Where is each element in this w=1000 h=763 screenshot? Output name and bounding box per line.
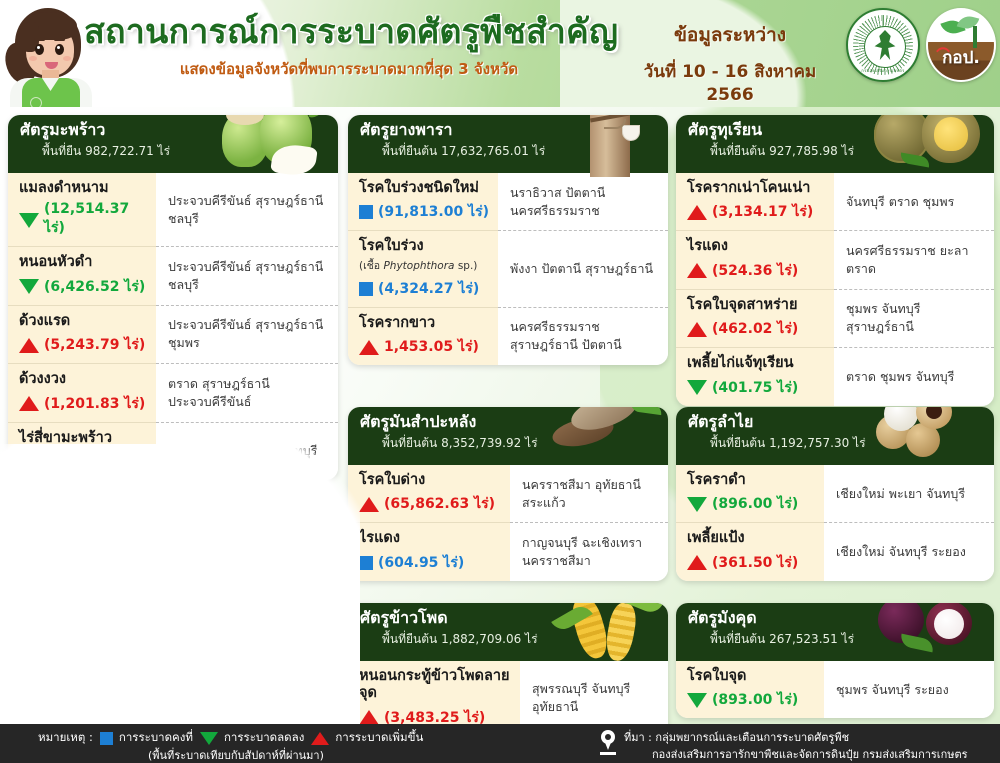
pest-info-cell: โรครากเน่าโคนเน่า(3,134.17 ไร่) — [676, 173, 834, 230]
pest-name: โรครากขาว — [359, 315, 492, 332]
crop-card-mangosteen: ศัตรูมังคุดพื้นที่ยืนต้น 267,523.51 ไร่โ… — [676, 603, 994, 718]
card-area-cassava: พื้นที่ยืนต้น 8,352,739.92 ไร่ — [360, 434, 658, 453]
steady-square-icon — [359, 282, 373, 296]
legend-item-decrease: การระบาดลดลง — [200, 729, 304, 747]
pest-list-cassava: โรคใบด่าง(65,862.63 ไร่)นครราชสีมา อุทัย… — [348, 465, 668, 581]
title-block: สถานการณ์การระบาดศัตรูพืชสำคัญ แสดงข้อมู… — [84, 14, 614, 81]
crop-card-coconut: ศัตรูมะพร้าวพื้นที่ยืน 982,722.71 ไร่แมล… — [8, 115, 338, 480]
legend: หมายเหตุ : การระบาดคงที่ การระบาดลดลง กา… — [38, 729, 423, 747]
pest-area-value: (4,313.46 ไร่ ) — [44, 585, 150, 623]
pest-area-value: 1,453.05 ไร่) — [384, 336, 479, 358]
card-title-mangosteen: ศัตรูมังคุด — [688, 609, 984, 627]
provinces-cell: ประจวบคีรีขันธ์ สุราษฎร์ธานี ชลบุรี — [156, 173, 338, 246]
pest-area-value: (604.95 ไร่) — [378, 552, 464, 574]
card-title-longan: ศัตรูลำไย — [688, 413, 984, 431]
provinces-cell: นครศรีธรรมราช ยะลา ตราด — [834, 230, 994, 288]
legend-item-increase: การระบาดเพิ่มขึ้น — [311, 729, 423, 747]
provinces-cell: นครศรีธรรมราช สุราษฎร์ธานี ปัตตานี — [498, 307, 668, 365]
pest-row: ด้วงแรด(1,736.60 ไร่)สุราษฎร์ธานี สตูล ช… — [8, 630, 338, 688]
pest-area-value: (524.36 ไร่) — [712, 260, 798, 282]
pest-area-value: (361.50 ไร่) — [712, 552, 798, 574]
card-title-cassava: ศัตรูมันสำปะหลัง — [360, 413, 658, 431]
card-title-oilpalm: ศัตรูปาล์มน้ำมัน — [20, 505, 328, 523]
government-seal-icon: กรมส่งเสริมการเกษตร — [846, 8, 920, 82]
increase-triangle-icon — [19, 396, 39, 411]
provinces-cell: พังงา ปัตตานี สุราษฎร์ธานี — [498, 230, 668, 306]
pest-row: ไร่สี่ขามะพร้าว(566.75 ไร่)ฉะเชิงเทรา เพ… — [8, 422, 338, 480]
pest-name: เพลี้ยไก่แจ้ทุเรียน — [687, 355, 828, 372]
pest-area-value: (6,426.52 ไร่) — [44, 276, 145, 298]
provinces-cell: ประจวบคีรีขันธ์ สุราษฎร์ธานี ชุมพร — [156, 305, 338, 363]
pest-area-value: (3,134.17 ไร่) — [712, 201, 813, 223]
steady-square-icon — [100, 732, 113, 745]
pest-area-value: (893.00 ไร่) — [712, 689, 798, 711]
pest-row: โรคใบจุดสาหร่าย(462.02 ไร่)ชุมพร จันทบุร… — [676, 289, 994, 347]
pest-area-value: (91,813.00 ไร่) — [378, 201, 489, 223]
decrease-triangle-icon — [200, 732, 218, 745]
pest-info-cell: แมลงดำหนาม(12,514.37 ไร่) — [8, 173, 156, 246]
pest-value-wrap: (6,426.52 ไร่) — [19, 276, 150, 298]
pest-row: โรคใบจุด(893.00 ไร่)ชุมพร จันทบุรี ระยอง — [676, 661, 994, 718]
pest-info-cell: ด้วงแรด(5,243.79 ไร่) — [8, 305, 156, 363]
card-header-coconut: ศัตรูมะพร้าวพื้นที่ยืน 982,722.71 ไร่ — [8, 115, 338, 173]
pest-row: ด้วงงวง(1,201.83 ไร่)ตราด สุราษฎร์ธานี ป… — [8, 363, 338, 421]
pest-area-value: (896.00 ไร่) — [712, 493, 798, 515]
card-title-maize: ศัตรูข้าวโพด — [360, 609, 658, 627]
infographic-page: สถานการณ์การระบาดศัตรูพืชสำคัญ แสดงข้อมู… — [0, 0, 1000, 763]
pest-row: ด้วงแรด(5,243.79 ไร่)ประจวบคีรีขันธ์ สุร… — [8, 305, 338, 363]
pest-name: โรครากเน่าโคนเน่า — [687, 180, 828, 197]
card-header-durian: ศัตรูทุเรียนพื้นที่ยืนต้น 927,785.98 ไร่ — [676, 115, 994, 173]
card-area-longan: พื้นที่ยืนต้น 1,192,757.30 ไร่ — [688, 434, 984, 453]
date-block: ข้อมูลระหว่าง วันที่ 10 - 16 สิงหาคม 256… — [620, 20, 840, 105]
pest-name: หนอนปลอกเล็ก — [19, 697, 150, 714]
pest-name: เพลี้ยแป้ง — [687, 530, 818, 547]
provinces-cell: สุราษฎร์ธานี ชุมพร นครศรีธรรมราช — [156, 689, 338, 724]
legend-label-decrease: การระบาดลดลง — [224, 729, 304, 747]
pest-info-cell: โรคราดำ(896.00 ไร่) — [676, 465, 824, 522]
pest-info-cell: โรคใบร่วงชนิดใหม่(91,813.00 ไร่) — [348, 173, 498, 230]
card-header-oilpalm: ศัตรูปาล์มน้ำมันพื้นที่ยืนต้น 4,663,627.… — [8, 499, 338, 557]
pest-info-cell: ด้วงแรด(1,736.60 ไร่) — [8, 630, 156, 688]
crop-card-cassava: ศัตรูมันสำปะหลังพื้นที่ยืนต้น 8,352,739.… — [348, 407, 668, 581]
pest-row: โรคใบร่วง(เชื้อ Phytophthora sp.)(4,324.… — [348, 230, 668, 306]
pest-value-wrap: (1,201.83 ไร่) — [19, 393, 150, 415]
content-area: ศัตรูมะพร้าวพื้นที่ยืน 982,722.71 ไร่แมล… — [0, 107, 1000, 724]
card-area-maize: พื้นที่ยืนต้น 1,882,709.06 ไร่ — [360, 630, 658, 649]
provinces-cell: ตราด สุราษฎร์ธานี ประจวบคีรีขันธ์ — [156, 363, 338, 421]
provinces-cell: ชุมพร จันทบุรี สุราษฎร์ธานี — [834, 289, 994, 347]
card-header-cassava: ศัตรูมันสำปะหลังพื้นที่ยืนต้น 8,352,739.… — [348, 407, 668, 465]
legend-label-steady: การระบาดคงที่ — [119, 729, 193, 747]
card-header-maize: ศัตรูข้าวโพดพื้นที่ยืนต้น 1,882,709.06 ไ… — [348, 603, 668, 661]
provinces-cell: ชุมพร จันทบุรี ระยอง — [824, 661, 994, 718]
pest-info-cell: หนอนหัวดำ(6,426.52 ไร่) — [8, 246, 156, 304]
pest-value-wrap: (893.00 ไร่) — [687, 689, 818, 711]
pest-row: หนอนปลอกเล็ก(1,634.28 ไร่)สุราษฎร์ธานี ช… — [8, 689, 338, 724]
pest-area-value: (1,201.83 ไร่) — [44, 393, 145, 415]
pest-value-wrap: (91,813.00 ไร่) — [359, 201, 492, 223]
pest-list-mangosteen: โรคใบจุด(893.00 ไร่)ชุมพร จันทบุรี ระยอง — [676, 661, 994, 718]
decrease-triangle-icon — [687, 693, 707, 708]
pest-value-wrap: (401.75 ไร่) — [687, 377, 828, 399]
pest-info-cell: ไรแดง(604.95 ไร่) — [348, 522, 510, 580]
increase-triangle-icon — [687, 322, 707, 337]
pest-info-cell: โรคลำต้นเน่า(4,313.46 ไร่ ) — [8, 557, 156, 630]
decrease-triangle-icon — [687, 380, 707, 395]
legend-note-label: หมายเหตุ : — [38, 729, 93, 747]
increase-triangle-icon — [359, 497, 379, 512]
card-header-mangosteen: ศัตรูมังคุดพื้นที่ยืนต้น 267,523.51 ไร่ — [676, 603, 994, 661]
pest-info-cell: ไรแดง(524.36 ไร่) — [676, 230, 834, 288]
provinces-cell: จันทบุรี ตราด ชุมพร — [834, 173, 994, 230]
card-title-coconut: ศัตรูมะพร้าว — [20, 121, 328, 139]
seal-caption: กรมส่งเสริมการเกษตร — [848, 67, 918, 74]
pest-value-wrap: 1,453.05 ไร่) — [359, 336, 492, 358]
pest-list-longan: โรคราดำ(896.00 ไร่)เชียงใหม่ พะเยา จันทบ… — [676, 465, 994, 581]
pest-name: ด้วงงวง — [19, 371, 150, 388]
pest-row: แมลงดำหนาม(12,514.37 ไร่)ประจวบคีรีขันธ์… — [8, 173, 338, 246]
pest-list-oilpalm: โรคลำต้นเน่า(4,313.46 ไร่ )สุราษฎร์ธานี … — [8, 557, 338, 724]
date-range: วันที่ 10 - 16 สิงหาคม 2566 — [620, 58, 840, 105]
provinces-cell: ฉะเชิงเทรา เพชรบุรี จันทบุรี — [156, 422, 338, 480]
pest-info-cell: โรคใบจุด(893.00 ไร่) — [676, 661, 824, 718]
pest-name: โรคใบร่วง — [359, 238, 492, 255]
provinces-cell: ตราด ชุมพร จันทบุรี — [834, 347, 994, 405]
pest-value-wrap: (524.36 ไร่) — [687, 260, 828, 282]
crop-card-oilpalm: ศัตรูปาล์มน้ำมันพื้นที่ยืนต้น 4,663,627.… — [8, 499, 338, 724]
pest-info-cell: โรคใบร่วง(เชื้อ Phytophthora sp.)(4,324.… — [348, 230, 498, 306]
pest-name: โรคราดำ — [687, 472, 818, 489]
pest-name: โรคใบจุดสาหร่าย — [687, 297, 828, 314]
pest-info-cell: ไร่สี่ขามะพร้าว(566.75 ไร่) — [8, 422, 156, 480]
source-block: ที่มา : กลุ่มพยากรณ์และเตือนการระบาดศัตร… — [600, 730, 968, 763]
pest-value-wrap: (65,862.63 ไร่) — [359, 493, 504, 515]
increase-triangle-icon — [311, 732, 329, 745]
crop-card-durian: ศัตรูทุเรียนพื้นที่ยืนต้น 927,785.98 ไร่… — [676, 115, 994, 406]
pest-area-value: (401.75 ไร่) — [712, 377, 798, 399]
pest-name: โรคใบจุด — [687, 668, 818, 685]
pest-name: โรคใบด่าง — [359, 472, 504, 489]
pest-row: หนอนหัวดำ(6,426.52 ไร่)ประจวบคีรีขันธ์ ส… — [8, 246, 338, 304]
pest-name: โรคลำต้นเน่า — [19, 564, 150, 581]
pest-area-value: (3,483.25 ไร่) — [384, 707, 485, 724]
pest-row: โรคใบด่าง(65,862.63 ไร่)นครราชสีมา อุทัย… — [348, 465, 668, 522]
provinces-cell: กาญจนบุรี ฉะเชิงเทรา นครราชสีมา — [510, 522, 668, 580]
crop-card-rubber: ศัตรูยางพาราพื้นที่ยืนต้น 17,632,765.01 … — [348, 115, 668, 365]
pest-name: หนอนกระทู้ข้าวโพดลายจุด — [359, 668, 514, 703]
pest-value-wrap: (462.02 ไร่) — [687, 318, 828, 340]
pest-area-value: (4,324.27 ไร่) — [378, 278, 479, 300]
provinces-cell: สุราษฎร์ธานี กระบี่ นครศรีธรรมราช — [156, 557, 338, 630]
pest-name: หนอนหัวดำ — [19, 254, 150, 271]
pest-row: โรคราดำ(896.00 ไร่)เชียงใหม่ พะเยา จันทบ… — [676, 465, 994, 522]
pest-value-wrap: (3,483.25 ไร่) — [359, 707, 514, 724]
pest-row: หนอนกระทู้ข้าวโพดลายจุด(3,483.25 ไร่)สุพ… — [348, 661, 668, 724]
card-area-rubber: พื้นที่ยืนต้น 17,632,765.01 ไร่ — [360, 142, 658, 161]
pest-value-wrap: (4,324.27 ไร่) — [359, 278, 492, 300]
provinces-cell: สุราษฎร์ธานี สตูล ชุมพร — [156, 630, 338, 688]
increase-triangle-icon — [19, 597, 39, 612]
date-label: ข้อมูลระหว่าง — [620, 20, 840, 50]
card-header-longan: ศัตรูลำไยพื้นที่ยืนต้น 1,192,757.30 ไร่ — [676, 407, 994, 465]
crop-card-maize: ศัตรูข้าวโพดพื้นที่ยืนต้น 1,882,709.06 ไ… — [348, 603, 668, 724]
oilpalm-illustration — [216, 499, 336, 563]
provinces-cell: เชียงใหม่ พะเยา จันทบุรี — [824, 465, 994, 522]
pest-row: โรคลำต้นเน่า(4,313.46 ไร่ )สุราษฎร์ธานี … — [8, 557, 338, 630]
pest-value-wrap: (1,736.60 ไร่) — [19, 660, 150, 682]
pest-info-cell: โรครากขาว1,453.05 ไร่) — [348, 307, 498, 365]
pest-area-value: (1,736.60 ไร่) — [44, 660, 145, 682]
kob-logo-icon: กอป. — [926, 8, 996, 82]
increase-triangle-icon — [687, 263, 707, 278]
card-title-rubber: ศัตรูยางพารา — [360, 121, 658, 139]
card-area-oilpalm: พื้นที่ยืนต้น 4,663,627.60 ไร่ — [20, 526, 328, 545]
increase-triangle-icon — [19, 454, 39, 469]
provinces-cell: สุพรรณบุรี จันทบุรี อุทัยธานี — [520, 661, 668, 724]
decrease-triangle-icon — [19, 663, 39, 678]
decrease-triangle-icon — [19, 213, 39, 228]
pest-area-value: (462.02 ไร่) — [712, 318, 798, 340]
pest-value-wrap: (4,313.46 ไร่ ) — [19, 585, 150, 623]
card-area-mangosteen: พื้นที่ยืนต้น 267,523.51 ไร่ — [688, 630, 984, 649]
pest-name: โรคใบร่วงชนิดใหม่ — [359, 180, 492, 197]
increase-triangle-icon — [359, 710, 379, 724]
steady-square-icon — [359, 205, 373, 219]
pest-row: เพลี้ยแป้ง(361.50 ไร่)เชียงใหม่ จันทบุรี… — [676, 522, 994, 580]
pest-info-cell: ด้วงงวง(1,201.83 ไร่) — [8, 363, 156, 421]
increase-triangle-icon — [359, 340, 379, 355]
pest-value-wrap: (604.95 ไร่) — [359, 552, 504, 574]
pest-area-value: (566.75 ไร่) — [44, 451, 130, 473]
pest-value-wrap: (12,514.37 ไร่) — [19, 201, 150, 239]
pest-list-rubber: โรคใบร่วงชนิดใหม่(91,813.00 ไร่)นราธิวาส… — [348, 173, 668, 365]
legend-item-steady: การระบาดคงที่ — [100, 729, 193, 747]
provinces-cell: นราธิวาส ปัตตานี นครศรีธรรมราช — [498, 173, 668, 230]
crop-card-longan: ศัตรูลำไยพื้นที่ยืนต้น 1,192,757.30 ไร่โ… — [676, 407, 994, 581]
legend-label-increase: การระบาดเพิ่มขึ้น — [335, 729, 423, 747]
pest-row: ไรแดง(524.36 ไร่)นครศรีธรรมราช ยะลา ตราด — [676, 230, 994, 288]
pest-info-cell: หนอนกระทู้ข้าวโพดลายจุด(3,483.25 ไร่) — [348, 661, 520, 724]
pest-name: ด้วงแรด — [19, 638, 150, 655]
source-line-1: ที่มา : กลุ่มพยากรณ์และเตือนการระบาดศัตร… — [624, 731, 849, 744]
page-header: สถานการณ์การระบาดศัตรูพืชสำคัญ แสดงข้อมู… — [0, 0, 1000, 107]
pest-row: เพลี้ยไก่แจ้ทุเรียน(401.75 ไร่)ตราด ชุมพ… — [676, 347, 994, 405]
page-subtitle: แสดงข้อมูลจังหวัดที่พบการระบาดมากที่สุด … — [84, 57, 614, 81]
pest-name: ด้วงแรด — [19, 313, 150, 330]
increase-triangle-icon — [687, 555, 707, 570]
card-area-durian: พื้นที่ยืนต้น 927,785.98 ไร่ — [688, 142, 984, 161]
steady-square-icon — [359, 556, 373, 570]
pest-subname: (เชื้อ Phytophthora sp.) — [359, 257, 492, 274]
pest-value-wrap: (566.75 ไร่) — [19, 451, 150, 473]
pest-value-wrap: (896.00 ไร่) — [687, 493, 818, 515]
pest-value-wrap: (3,134.17 ไร่) — [687, 201, 828, 223]
pest-info-cell: เพลี้ยแป้ง(361.50 ไร่) — [676, 522, 824, 580]
decrease-triangle-icon — [687, 497, 707, 512]
page-title: สถานการณ์การระบาดศัตรูพืชสำคัญ — [84, 14, 614, 51]
logo-text: กอป. — [928, 44, 994, 71]
pest-info-cell: หนอนปลอกเล็ก(1,634.28 ไร่) — [8, 689, 156, 724]
pest-list-durian: โรครากเน่าโคนเน่า(3,134.17 ไร่)จันทบุรี … — [676, 173, 994, 406]
pest-name: ไร่สี่ขามะพร้าว — [19, 430, 150, 447]
location-pin-icon — [600, 730, 616, 756]
page-footer: หมายเหตุ : การระบาดคงที่ การระบาดลดลง กา… — [0, 724, 1000, 763]
provinces-cell: นครราชสีมา อุทัยธานี สระแก้ว — [510, 465, 668, 522]
pest-info-cell: เพลี้ยไก่แจ้ทุเรียน(401.75 ไร่) — [676, 347, 834, 405]
pest-area-value: (5,243.79 ไร่) — [44, 334, 145, 356]
pest-info-cell: โรคใบจุดสาหร่าย(462.02 ไร่) — [676, 289, 834, 347]
pest-row: โรคใบร่วงชนิดใหม่(91,813.00 ไร่)นราธิวาส… — [348, 173, 668, 230]
card-header-rubber: ศัตรูยางพาราพื้นที่ยืนต้น 17,632,765.01 … — [348, 115, 668, 173]
pest-list-maize: หนอนกระทู้ข้าวโพดลายจุด(3,483.25 ไร่)สุพ… — [348, 661, 668, 724]
pest-row: โรครากขาว1,453.05 ไร่)นครศรีธรรมราช สุรา… — [348, 307, 668, 365]
increase-triangle-icon — [687, 205, 707, 220]
source-line-2: กองส่งเสริมการอารักขาพืชและจัดการดินปุ๋ย… — [624, 747, 968, 763]
card-area-coconut: พื้นที่ยืน 982,722.71 ไร่ — [20, 142, 328, 161]
provinces-cell: เชียงใหม่ จันทบุรี ระยอง — [824, 522, 994, 580]
pest-row: ไรแดง(604.95 ไร่)กาญจนบุรี ฉะเชิงเทรา นค… — [348, 522, 668, 580]
pest-name: ไรแดง — [687, 238, 828, 255]
pest-area-value: (65,862.63 ไร่) — [384, 493, 495, 515]
pest-list-coconut: แมลงดำหนาม(12,514.37 ไร่)ประจวบคีรีขันธ์… — [8, 173, 338, 480]
increase-triangle-icon — [19, 338, 39, 353]
provinces-cell: ประจวบคีรีขันธ์ สุราษฎร์ธานี ชลบุรี — [156, 246, 338, 304]
pest-name: ไรแดง — [359, 530, 504, 547]
pest-value-wrap: (361.50 ไร่) — [687, 552, 818, 574]
pest-area-value: (12,514.37 ไร่) — [44, 201, 150, 239]
card-title-durian: ศัตรูทุเรียน — [688, 121, 984, 139]
pest-value-wrap: (5,243.79 ไร่) — [19, 334, 150, 356]
pest-row: โรครากเน่าโคนเน่า(3,134.17 ไร่)จันทบุรี … — [676, 173, 994, 230]
decrease-triangle-icon — [19, 279, 39, 294]
legend-note-sub: (พื้นที่ระบาดเทียบกับสัปดาห์ที่ผ่านมา) — [148, 746, 324, 763]
pest-info-cell: โรคใบด่าง(65,862.63 ไร่) — [348, 465, 510, 522]
pest-name: แมลงดำหนาม — [19, 180, 150, 197]
